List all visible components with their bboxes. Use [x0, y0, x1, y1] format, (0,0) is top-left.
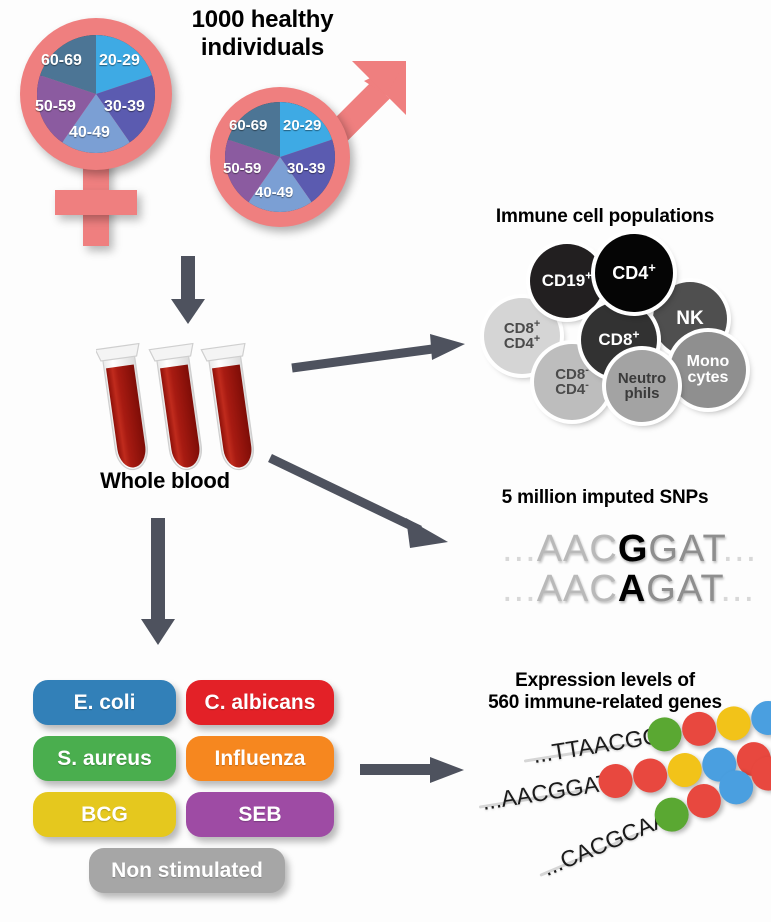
strand-sequence: ...AACGGAT	[480, 769, 613, 816]
cell-label: CD4	[612, 263, 648, 283]
stimulus-label: Influenza	[214, 747, 305, 771]
snp-suffix: ...	[722, 528, 757, 570]
male-slice-label-40-49: 40-49	[255, 184, 293, 201]
cell-line2: phils	[624, 385, 659, 402]
snp-left: AAC	[537, 568, 618, 610]
stimulus-non-stimulated[interactable]: Non stimulated	[89, 848, 285, 893]
arrow-blood-to-immune	[290, 330, 470, 380]
arrow-blood-to-stimuli	[138, 518, 178, 648]
bead	[680, 709, 719, 748]
male-slice-label-50-59: 50-59	[223, 160, 261, 177]
cell-line2: CD4	[555, 381, 585, 398]
female-crossbar	[55, 190, 137, 215]
stimulus-label: E. coli	[74, 691, 136, 715]
stimulus-label: C. albicans	[205, 691, 316, 715]
snp-suffix: ...	[720, 568, 755, 610]
snp-prefix: ...	[502, 568, 537, 610]
whole-blood-label: Whole blood	[60, 468, 270, 493]
snp-right: GAT	[646, 568, 720, 610]
snp-sequence-1: ...AACGGAT...	[502, 528, 757, 571]
female-slice-label-20-29: 20-29	[99, 52, 140, 70]
female-slice-label-40-49: 40-49	[69, 124, 110, 142]
cell-line1: Mono	[687, 353, 730, 370]
stimulus-e-coli[interactable]: E. coli	[33, 680, 176, 725]
stimulus-label: SEB	[238, 803, 281, 827]
male-slice-label-60-69: 60-69	[229, 117, 267, 134]
immune-cell-group: CD8+ CD4+ CD19+ CD4+ NK CD8+ CD8- CD4- N…	[470, 202, 760, 432]
snp-variant: A	[618, 568, 646, 610]
cell-label: NK	[676, 309, 703, 328]
female-slice-label-60-69: 60-69	[41, 52, 82, 70]
snp-left: AAC	[537, 528, 618, 570]
cell-label: CD19	[542, 271, 585, 290]
stimulus-label: S. aureus	[57, 747, 152, 771]
immune-cell-monocytes: Mono cytes	[670, 332, 746, 408]
male-slice-label-30-39: 30-39	[287, 160, 325, 177]
female-venus-symbol: 20-29 30-39 40-49 50-59 60-69	[12, 8, 192, 258]
cell-sup: +	[585, 269, 592, 283]
snp-right: GAT	[648, 528, 722, 570]
stimulus-s-aureus[interactable]: S. aureus	[33, 736, 176, 781]
snp-prefix: ...	[502, 528, 537, 570]
stimulus-label: Non stimulated	[111, 859, 263, 883]
arrow-stimuli-to-expression	[360, 752, 470, 792]
expression-title: Expression levels of 560 immune-related …	[440, 670, 770, 714]
immune-cell-neutrophils: Neutro phils	[606, 350, 678, 422]
cell-sup: +	[648, 260, 656, 275]
cell-sup: +	[632, 328, 639, 342]
male-mars-symbol: 20-29 30-39 40-49 50-59 60-69	[210, 53, 420, 243]
immune-cell-cd19-positive: CD19+	[530, 244, 604, 318]
cell-sup1: -	[585, 364, 589, 376]
stimulus-influenza[interactable]: Influenza	[186, 736, 334, 781]
strand-sequence: ...CACGCAA	[539, 805, 672, 882]
cell-sup2: -	[585, 379, 589, 391]
cell-line2: cytes	[688, 369, 729, 386]
bead	[631, 756, 670, 795]
arrow-cohort-to-blood	[168, 256, 208, 326]
stimulus-c-albicans[interactable]: C. albicans	[186, 680, 334, 725]
snp-variant: G	[618, 528, 649, 570]
immune-cell-cd4-positive: CD4+	[595, 234, 673, 312]
cell-label: CD8	[598, 330, 632, 349]
female-slice-label-30-39: 30-39	[104, 98, 145, 116]
male-slice-label-20-29: 20-29	[283, 117, 321, 134]
stimulus-label: BCG	[81, 803, 128, 827]
cohort-title-line1: 1000 healthy	[170, 6, 355, 34]
expression-title-line1: Expression levels of	[440, 670, 770, 692]
arrow-blood-to-snps	[268, 450, 463, 560]
snp-sequence-2: ...AACAGAT...	[502, 568, 755, 611]
cell-line2: CD4	[504, 335, 534, 352]
stimulus-bcg[interactable]: BCG	[33, 792, 176, 837]
female-slice-label-50-59: 50-59	[35, 98, 76, 116]
cell-sup1: +	[534, 318, 540, 330]
stimulus-seb[interactable]: SEB	[186, 792, 334, 837]
cell-sup2: +	[534, 333, 540, 345]
snp-title: 5 million imputed SNPs	[440, 487, 770, 509]
